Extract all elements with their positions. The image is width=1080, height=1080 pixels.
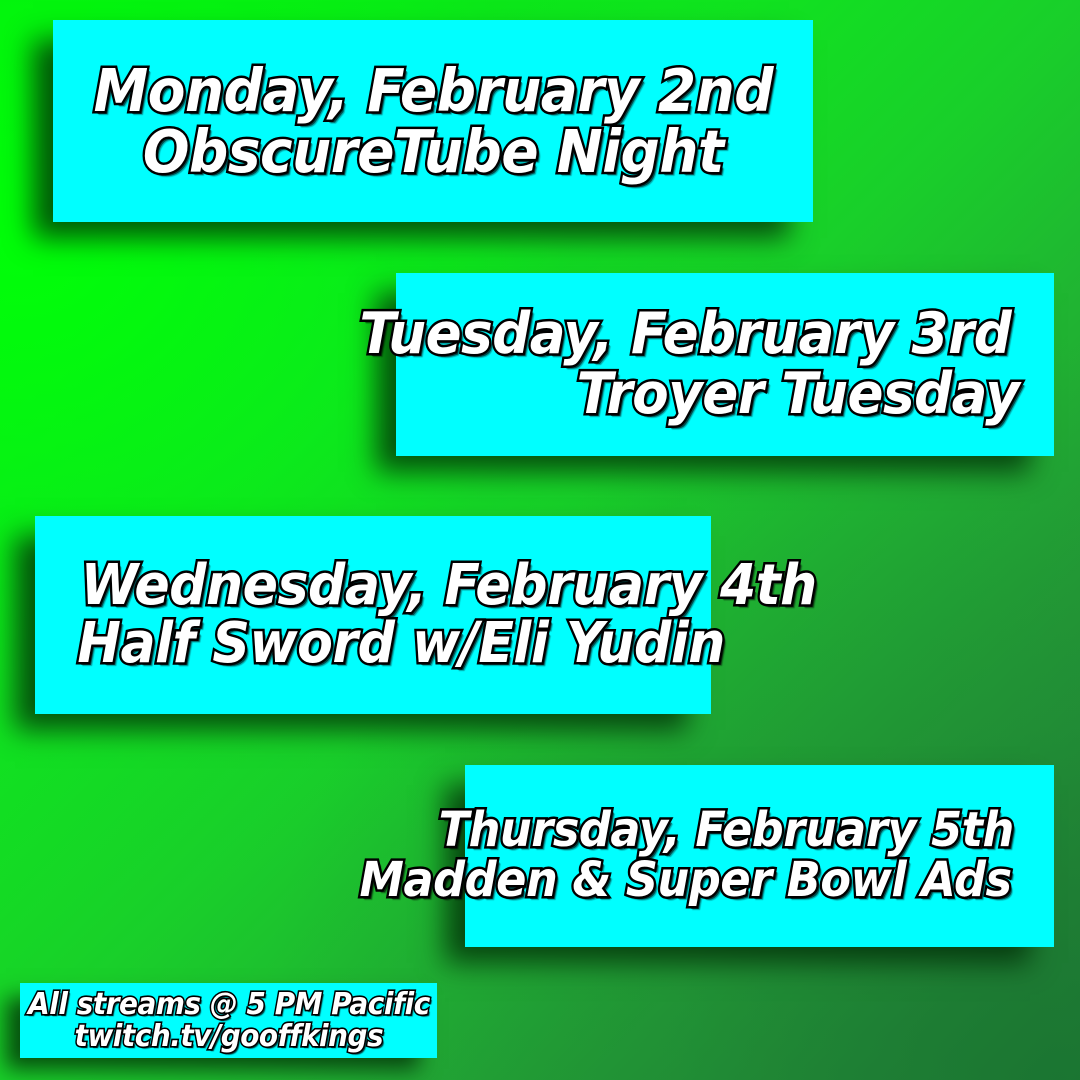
stream-schedule-poster: Monday, February 2nd ObscureTube Night T… (0, 0, 1080, 1080)
schedule-card-wednesday: Wednesday, February 4th Half Sword w/Eli… (35, 516, 711, 714)
schedule-card-date: Wednesday, February 4th (81, 557, 817, 615)
footer-stream-time: All streams @ 5 PM Pacific (28, 989, 430, 1020)
schedule-card-date: Thursday, February 5th (439, 806, 1014, 856)
schedule-card-title: Half Sword w/Eli Yudin (77, 615, 724, 673)
footer-twitch-handle[interactable]: twitch.tv/gooffkings (74, 1021, 383, 1052)
schedule-card-title: Troyer Tuesday (577, 365, 1020, 424)
schedule-card-monday: Monday, February 2nd ObscureTube Night (53, 20, 813, 222)
schedule-card-thursday: Thursday, February 5th Madden & Super Bo… (465, 765, 1054, 947)
schedule-card-tuesday: Tuesday, February 3rd Troyer Tuesday (396, 273, 1054, 456)
schedule-card-date: Tuesday, February 3rd (360, 305, 1012, 364)
footer-info-card: All streams @ 5 PM Pacific twitch.tv/goo… (20, 983, 437, 1058)
schedule-card-title: ObscureTube Night (143, 121, 724, 182)
schedule-card-date: Monday, February 2nd (93, 60, 772, 121)
schedule-card-title: Madden & Super Bowl Ads (359, 856, 1011, 906)
